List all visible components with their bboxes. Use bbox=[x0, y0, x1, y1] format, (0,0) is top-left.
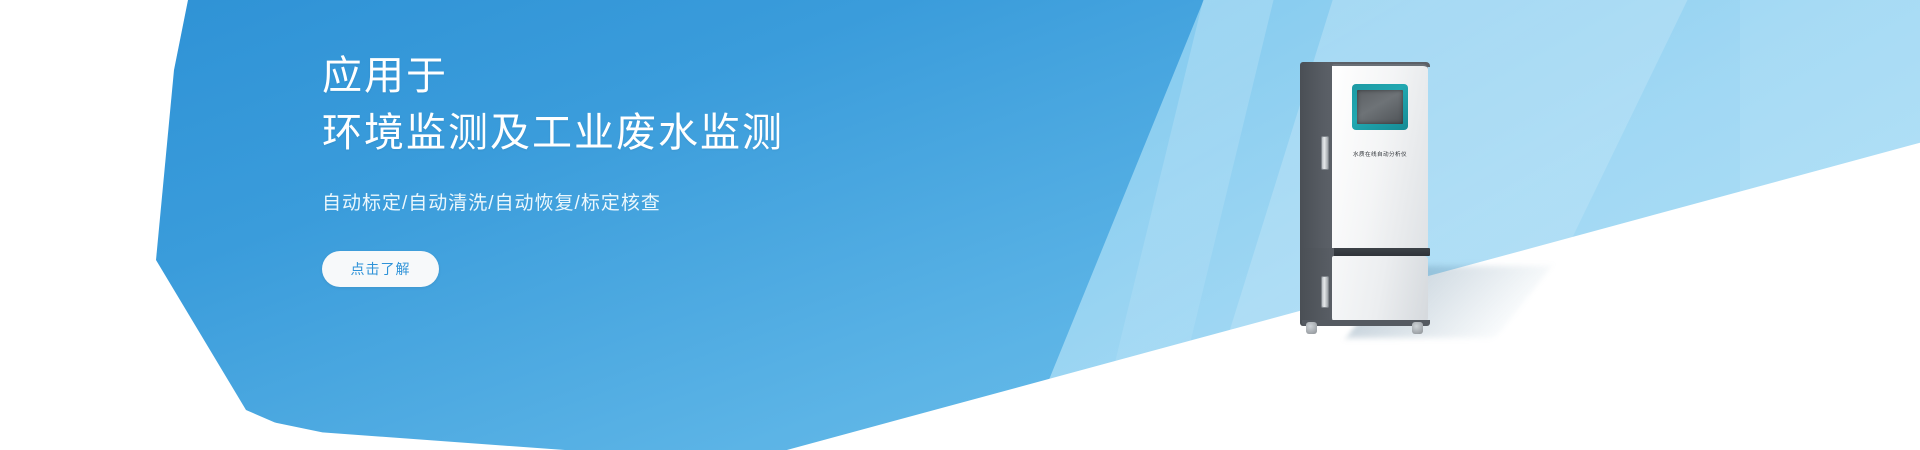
door-handle-icon-lower bbox=[1321, 276, 1329, 308]
display-screen-icon bbox=[1352, 84, 1408, 130]
device-lower-body bbox=[1332, 256, 1428, 322]
device-screen-glass bbox=[1357, 90, 1403, 124]
device-base bbox=[1302, 320, 1430, 326]
headline: 应用于 环境监测及工业废水监测 bbox=[322, 48, 1082, 162]
analyzer-cabinet-icon: 水质在线自动分析仪 bbox=[1300, 62, 1460, 334]
door-handle-icon-upper bbox=[1321, 136, 1329, 170]
caster-wheel-icon-left bbox=[1306, 322, 1317, 334]
caster-wheel-icon-right bbox=[1412, 322, 1423, 334]
promo-banner: 应用于 环境监测及工业废水监测 自动标定/自动清洗/自动恢复/标定核查 点击了解… bbox=[0, 0, 1920, 450]
device-label: 水质在线自动分析仪 bbox=[1334, 150, 1426, 158]
learn-more-button[interactable]: 点击了解 bbox=[322, 251, 439, 287]
headline-line-2: 环境监测及工业废水监测 bbox=[322, 105, 1082, 162]
subtitle: 自动标定/自动清洗/自动恢复/标定核查 bbox=[322, 188, 1082, 215]
banner-content: 应用于 环境监测及工业废水监测 自动标定/自动清洗/自动恢复/标定核查 点击了解 bbox=[322, 48, 1082, 287]
headline-line-1: 应用于 bbox=[322, 48, 1082, 105]
device-divider bbox=[1330, 248, 1430, 256]
